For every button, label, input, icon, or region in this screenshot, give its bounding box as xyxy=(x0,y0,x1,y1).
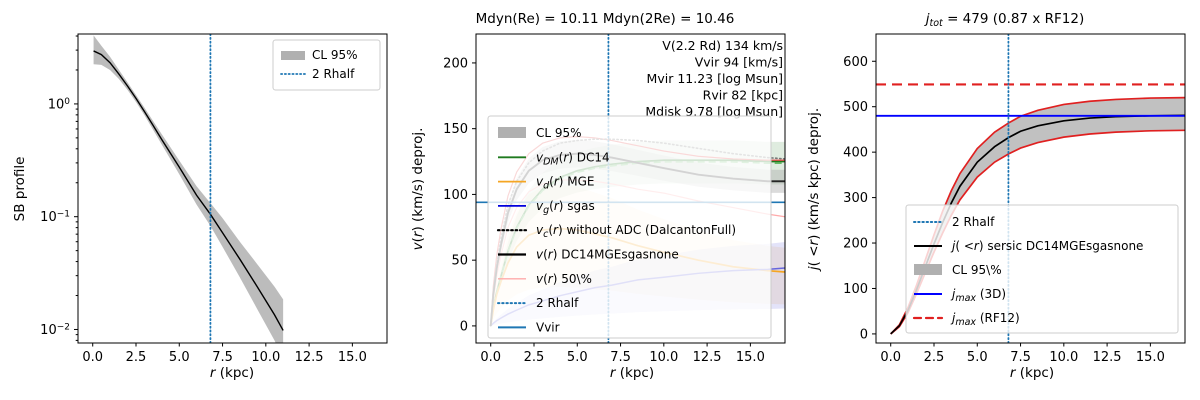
rc-legend-label-vvir: Vvir xyxy=(536,320,560,334)
am-yticklabel: 600 xyxy=(843,55,868,70)
rc-yticklabel: 0 xyxy=(460,319,468,334)
rc-legend-label-v50: v(r) 50\% xyxy=(536,272,592,286)
rc-legend-label-2rhalf: 2 Rhalf xyxy=(536,296,579,310)
rc-xticklabel: 5.0 xyxy=(567,350,588,365)
rc-xticklabel: 7.5 xyxy=(610,350,631,365)
am-xticklabel: 2.5 xyxy=(924,350,945,365)
sb-yticklabel: 10−2 xyxy=(40,322,70,338)
am-xaxis-label: r (kpc) xyxy=(1010,365,1054,381)
rc-yticklabel: 200 xyxy=(443,56,468,71)
am-yticklabel: 200 xyxy=(843,237,868,252)
rc-xticklabel: 10.0 xyxy=(649,350,678,365)
sb-xticklabel: 0.0 xyxy=(82,350,103,365)
rc-yticklabel: 100 xyxy=(443,188,468,203)
am-yticklabel: 100 xyxy=(843,282,868,297)
rc-yticklabel: 150 xyxy=(443,122,468,137)
sb-cl95-band xyxy=(94,35,284,358)
am-xticklabel: 0.0 xyxy=(880,350,901,365)
rc-annotation-line: Mvir 11.23 [log Msun] xyxy=(647,71,783,86)
rotation-curve-svg: 0.02.55.07.510.012.515.0050100150200V(2.… xyxy=(400,0,800,400)
sb-xaxis-label: r (kpc) xyxy=(210,365,254,381)
sb-legend-label-2rhalf: 2 Rhalf xyxy=(312,67,355,81)
rotation-curve-title: Mdyn(Re) = 10.11 Mdyn(2Re) = 10.46 xyxy=(476,11,735,27)
rc-xaxis-label: r (kpc) xyxy=(610,365,654,381)
sb-xticklabel: 15.0 xyxy=(338,350,367,365)
rc-legend-label-vtot: v(r) DC14MGEsgasnone xyxy=(536,248,679,262)
am-xticklabel: 5.0 xyxy=(967,350,988,365)
sb-xticklabel: 10.0 xyxy=(251,350,280,365)
rc-annotation-line: Vvir 94 [km/s] xyxy=(695,55,783,70)
sb-yticklabel: 100 xyxy=(48,97,71,113)
am-xticklabel: 15.0 xyxy=(1136,350,1165,365)
sb-xticklabel: 12.5 xyxy=(295,350,324,365)
sb-xticklabel: 2.5 xyxy=(126,350,147,365)
figure-canvas: 0.02.55.07.510.012.515.010−210−1100CL 95… xyxy=(0,0,1200,400)
angular-momentum-title: jtot = 479 (0.87 x RF12) xyxy=(924,11,1084,29)
am-legend-label-cl95: CL 95\% xyxy=(952,263,1002,277)
sb-xticklabel: 7.5 xyxy=(212,350,233,365)
rc-xticklabel: 12.5 xyxy=(693,350,722,365)
am-legend-box[interactable] xyxy=(906,205,1178,333)
sb-profile-svg: 0.02.55.07.510.012.515.010−210−1100CL 95… xyxy=(0,0,400,400)
angular-momentum-svg: 0.02.55.07.510.012.515.00100200300400500… xyxy=(800,0,1200,400)
sb-legend-label-cl95: CL 95% xyxy=(312,48,358,62)
am-legend-label-2rhalf: 2 Rhalf xyxy=(952,215,995,229)
rc-legend-patch-cl95 xyxy=(498,127,526,138)
am-legend-patch-cl95 xyxy=(914,264,942,275)
sb-yaxis-label: SB profile xyxy=(12,157,28,222)
am-xticklabel: 12.5 xyxy=(1093,350,1122,365)
am-legend-label-j: j( <r) sersic DC14MGEsgasnone xyxy=(950,239,1143,253)
sb-xticklabel: 5.0 xyxy=(169,350,190,365)
sb-yticklabel: 10−1 xyxy=(40,210,70,226)
rc-annotation-line: V(2.2 Rd) 134 km/s xyxy=(662,38,783,53)
sb-legend-patch-cl95 xyxy=(281,51,305,60)
sb-profile-panel: 0.02.55.07.510.012.515.010−210−1100CL 95… xyxy=(0,0,400,400)
am-yticklabel: 300 xyxy=(843,191,868,206)
am-yticklabel: 0 xyxy=(860,327,868,342)
rotation-curve-panel: 0.02.55.07.510.012.515.0050100150200V(2.… xyxy=(400,0,800,400)
am-yaxis-label: j( <r) (km/s kpc) deproj. xyxy=(806,108,822,272)
am-yticklabel: 400 xyxy=(843,146,868,161)
rc-yaxis-label: v(r) (km/s) deproj. xyxy=(410,128,426,251)
am-yticklabel: 500 xyxy=(843,100,868,115)
rc-xticklabel: 2.5 xyxy=(524,350,545,365)
rc-annotation-line: Rvir 82 [kpc] xyxy=(703,88,783,103)
rc-xticklabel: 0.0 xyxy=(480,350,501,365)
rc-yticklabel: 50 xyxy=(451,254,468,269)
angular-momentum-panel: 0.02.55.07.510.012.515.00100200300400500… xyxy=(800,0,1200,400)
rc-legend-label-cl95: CL 95% xyxy=(536,126,582,140)
am-xticklabel: 10.0 xyxy=(1049,350,1078,365)
rc-xticklabel: 15.0 xyxy=(736,350,765,365)
sb-plot-area xyxy=(94,34,284,359)
am-xticklabel: 7.5 xyxy=(1010,350,1031,365)
